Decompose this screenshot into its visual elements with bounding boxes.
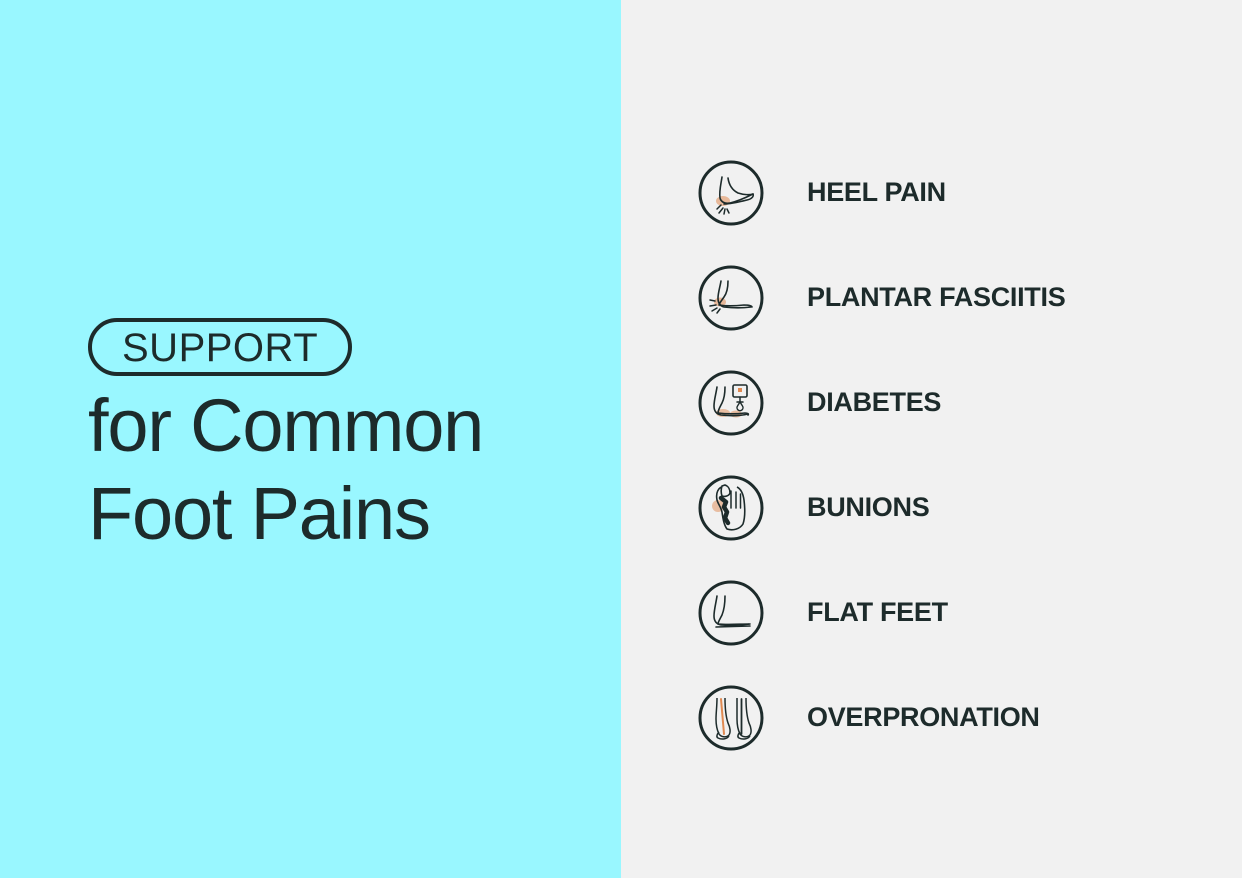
foot-pain-support-poster: SUPPORT for Common Foot Pains HEEL PAIN xyxy=(0,0,1242,878)
list-item: PLANTAR FASCIITIS xyxy=(697,245,1065,350)
conditions-list: HEEL PAIN PLANTAR FASCIITIS xyxy=(697,140,1065,770)
headline-line-2: Foot Pains xyxy=(88,470,483,558)
heel-pain-icon xyxy=(697,159,765,227)
headline-block: SUPPORT for Common Foot Pains xyxy=(88,318,483,558)
overpronation-icon xyxy=(697,684,765,752)
plantar-fasciitis-icon xyxy=(697,264,765,332)
list-item: OVERPRONATION xyxy=(697,665,1065,770)
list-item-label: HEEL PAIN xyxy=(807,177,946,208)
support-eyebrow-label: SUPPORT xyxy=(122,329,318,367)
list-item-label: OVERPRONATION xyxy=(807,702,1040,733)
list-item-label: PLANTAR FASCIITIS xyxy=(807,282,1065,313)
list-item: HEEL PAIN xyxy=(697,140,1065,245)
list-item: BUNIONS xyxy=(697,455,1065,560)
list-item-label: BUNIONS xyxy=(807,492,929,523)
page-title: for Common Foot Pains xyxy=(88,382,483,558)
conditions-panel: HEEL PAIN PLANTAR FASCIITIS xyxy=(621,0,1242,878)
bunions-icon xyxy=(697,474,765,542)
diabetes-icon xyxy=(697,369,765,437)
support-eyebrow-pill: SUPPORT xyxy=(88,318,352,376)
list-item-label: FLAT FEET xyxy=(807,597,948,628)
list-item: DIABETES xyxy=(697,350,1065,455)
headline-line-1: for Common xyxy=(88,382,483,470)
list-item-label: DIABETES xyxy=(807,387,941,418)
list-item: FLAT FEET xyxy=(697,560,1065,665)
flat-feet-icon xyxy=(697,579,765,647)
hero-panel: SUPPORT for Common Foot Pains xyxy=(0,0,621,878)
